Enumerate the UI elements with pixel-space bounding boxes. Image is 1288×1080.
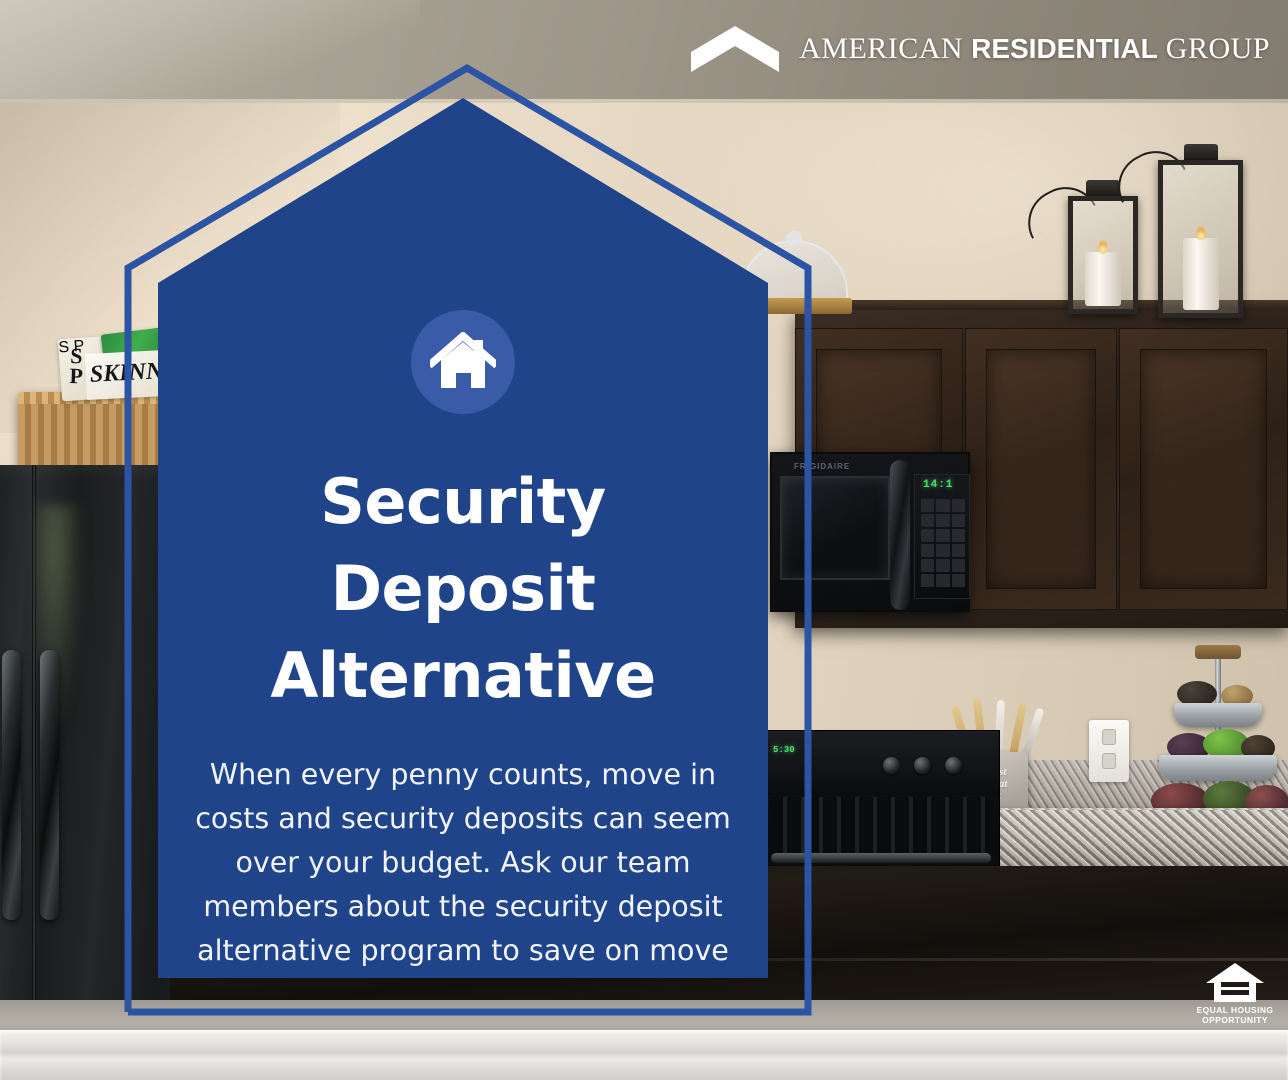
range-control-panel: 5:30 bbox=[761, 731, 999, 795]
range-display: 5:30 bbox=[773, 745, 795, 755]
wall-outlet bbox=[1089, 720, 1129, 782]
promotional-graphic: FRIGIDAIRE 14:1 S P bbox=[0, 0, 1288, 1080]
microwave-control-panel: 14:1 bbox=[914, 474, 970, 599]
candle-lantern-small bbox=[1068, 196, 1138, 314]
wicker-basket bbox=[18, 392, 168, 470]
tray-handle bbox=[1195, 645, 1241, 659]
range-knobs bbox=[883, 757, 962, 774]
promo-card: Security Deposit Alternative When every … bbox=[158, 98, 768, 978]
microwave-keypad bbox=[921, 499, 965, 587]
candle-lantern-large bbox=[1158, 160, 1243, 318]
promo-body-text: When every penny counts, move in costs a… bbox=[194, 753, 732, 1017]
equal-housing-opportunity-icon bbox=[1204, 961, 1266, 1005]
home-icon-badge bbox=[411, 310, 515, 414]
snack-bag bbox=[85, 350, 167, 400]
eho-label-line-2: OPPORTUNITY bbox=[1196, 1015, 1274, 1025]
headline-line-2: Deposit bbox=[193, 545, 733, 632]
headline-line-3: Alternative bbox=[193, 632, 733, 719]
tray-tier bbox=[1159, 755, 1277, 781]
refrigerator bbox=[0, 465, 170, 1025]
chevron-roof-icon bbox=[689, 24, 781, 74]
brand-wordmark: AMERICAN RESIDENTIAL GROUP bbox=[799, 32, 1270, 66]
candle-flame-icon bbox=[1196, 226, 1205, 240]
page-title: Security Deposit Alternative bbox=[193, 458, 733, 719]
microwave-handle bbox=[890, 460, 910, 610]
pillar-candle bbox=[1183, 238, 1219, 310]
brand-word-residential: RESIDENTIAL bbox=[971, 33, 1158, 64]
eho-label-line-1: EQUAL HOUSING bbox=[1196, 1005, 1274, 1015]
pillar-candle bbox=[1085, 252, 1121, 306]
equal-housing-opportunity-logo: EQUAL HOUSING OPPORTUNITY bbox=[1196, 961, 1274, 1025]
oven-door-handle bbox=[771, 853, 991, 863]
headline-line-1: Security bbox=[193, 458, 733, 545]
microwave-window bbox=[780, 476, 890, 580]
fridge-handle bbox=[2, 650, 21, 920]
brand-word-american: AMERICAN bbox=[799, 32, 963, 65]
microwave-display: 14:1 bbox=[923, 479, 953, 491]
home-icon bbox=[430, 332, 496, 392]
tray-tier bbox=[1174, 703, 1262, 727]
microwave-brand-label: FRIGIDAIRE bbox=[794, 462, 850, 471]
candle-flame-icon bbox=[1099, 240, 1108, 254]
fridge-handle bbox=[40, 650, 59, 920]
cabinet-door bbox=[1119, 328, 1288, 610]
baseboard-molding bbox=[0, 1030, 1288, 1080]
burner-grates bbox=[769, 797, 993, 859]
brand-word-group: GROUP bbox=[1166, 32, 1270, 65]
tiered-serving-tray bbox=[1145, 645, 1288, 835]
microwave-oven: FRIGIDAIRE 14:1 bbox=[770, 452, 970, 612]
cabinet-door bbox=[965, 328, 1117, 610]
brand-logo: AMERICAN RESIDENTIAL GROUP bbox=[689, 24, 1270, 74]
